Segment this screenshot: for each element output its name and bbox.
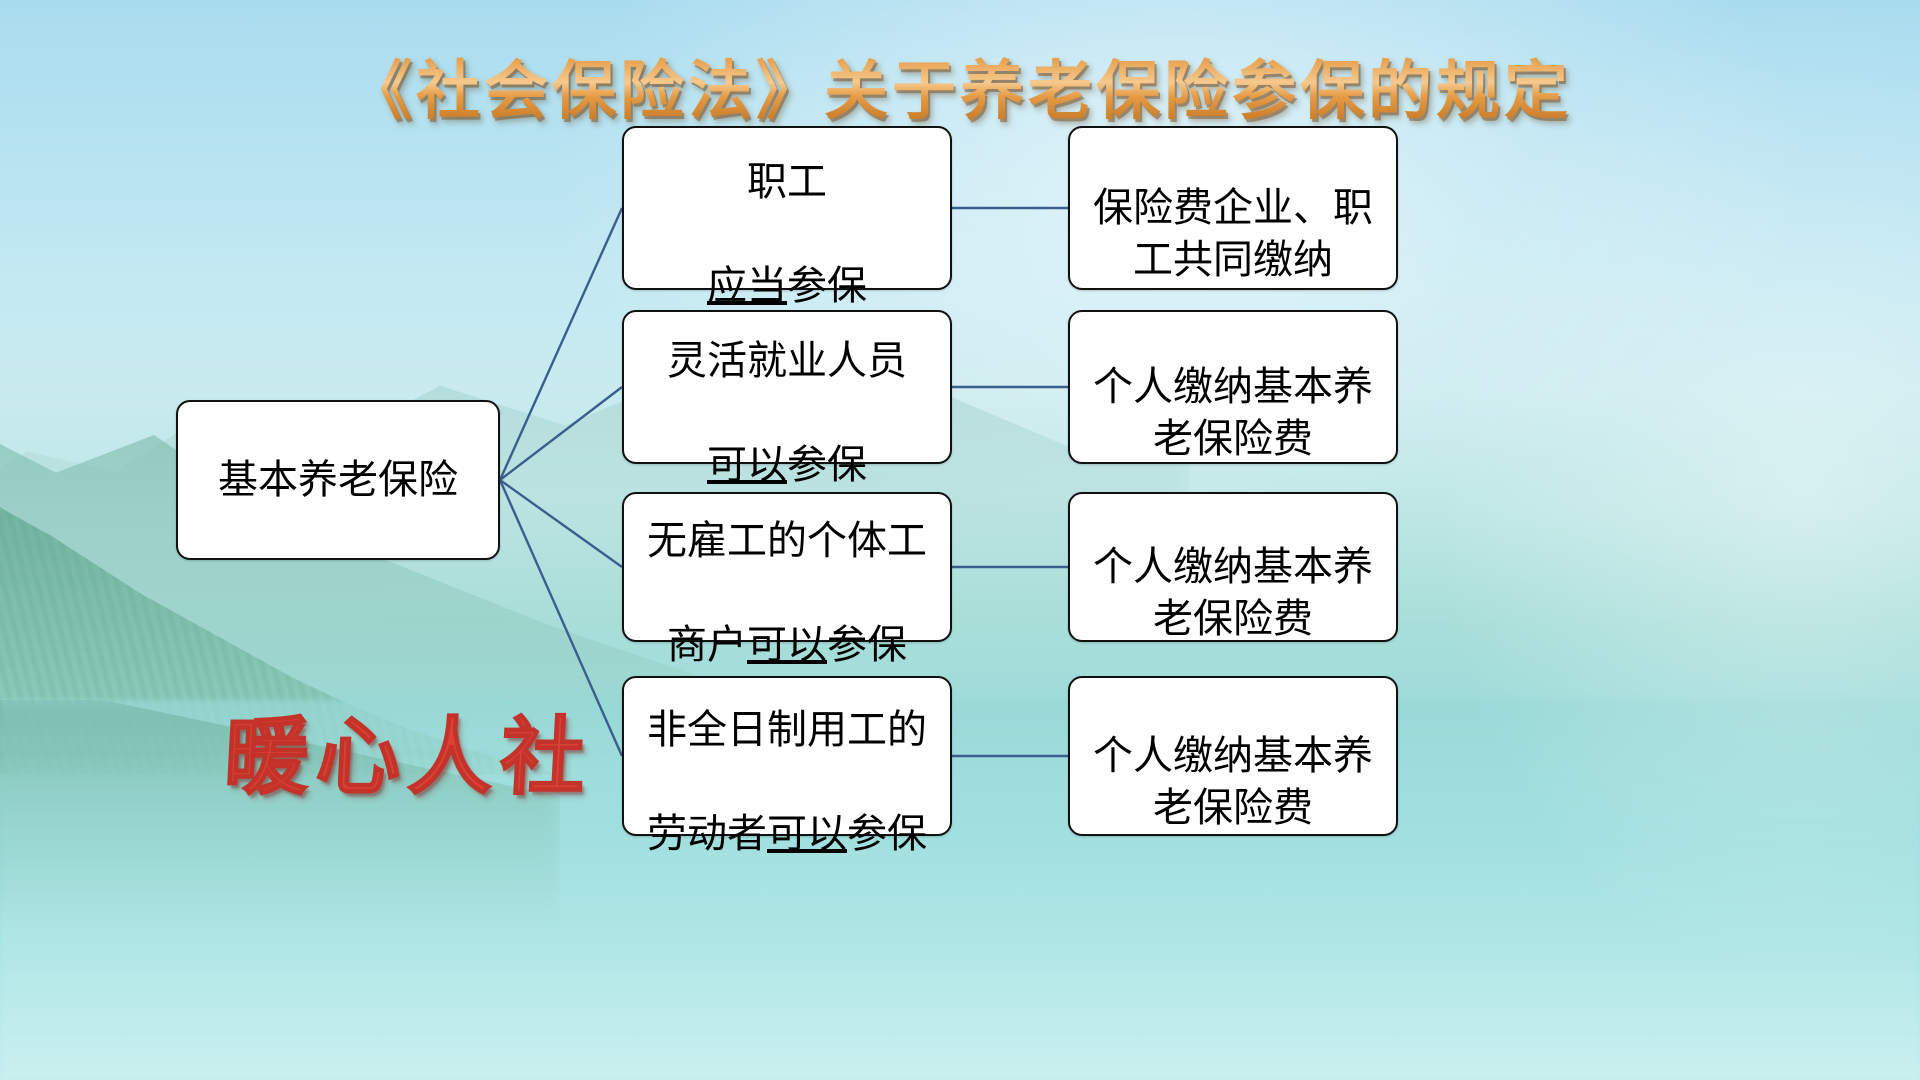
node-mid-employee-label: 职工 应当参保	[707, 104, 867, 312]
node-root-basic-pension[interactable]: 基本养老保险	[176, 400, 500, 560]
node-mid-part-time-worker-label: 非全日制用工的 劳动者可以参保	[647, 652, 927, 860]
node-right-3-label: 个人缴纳基本养老保险费	[1093, 678, 1373, 834]
node-right-0-label: 保险费企业、职工共同缴纳	[1093, 130, 1373, 286]
node-right-1-label: 个人缴纳基本养老保险费	[1093, 309, 1373, 465]
node-mid-employee[interactable]: 职工 应当参保	[622, 126, 952, 290]
node-right-individual-pay-1[interactable]: 个人缴纳基本养老保险费	[1068, 310, 1398, 464]
node-right-employer-employee-pay[interactable]: 保险费企业、职工共同缴纳	[1068, 126, 1398, 290]
watermark: 暖心人社	[222, 690, 596, 811]
node-mid-self-employed-label: 无雇工的个体工 商户可以参保	[647, 463, 927, 671]
page-title: 《社会保险法》关于养老保险参保的规定	[0, 40, 1920, 132]
node-right-individual-pay-3[interactable]: 个人缴纳基本养老保险费	[1068, 676, 1398, 836]
slide-canvas: 《社会保险法》关于养老保险参保的规定 基本养老保险 职工 应当参保 灵活就业人员…	[0, 0, 1920, 1080]
node-right-individual-pay-2[interactable]: 个人缴纳基本养老保险费	[1068, 492, 1398, 642]
node-root-label: 基本养老保险	[218, 454, 458, 506]
node-mid-part-time-worker[interactable]: 非全日制用工的 劳动者可以参保	[622, 676, 952, 836]
node-mid-flexible-worker-label: 灵活就业人员 可以参保	[667, 283, 907, 491]
node-mid-flexible-worker[interactable]: 灵活就业人员 可以参保	[622, 310, 952, 464]
node-mid-self-employed[interactable]: 无雇工的个体工 商户可以参保	[622, 492, 952, 642]
node-right-2-label: 个人缴纳基本养老保险费	[1093, 489, 1373, 645]
